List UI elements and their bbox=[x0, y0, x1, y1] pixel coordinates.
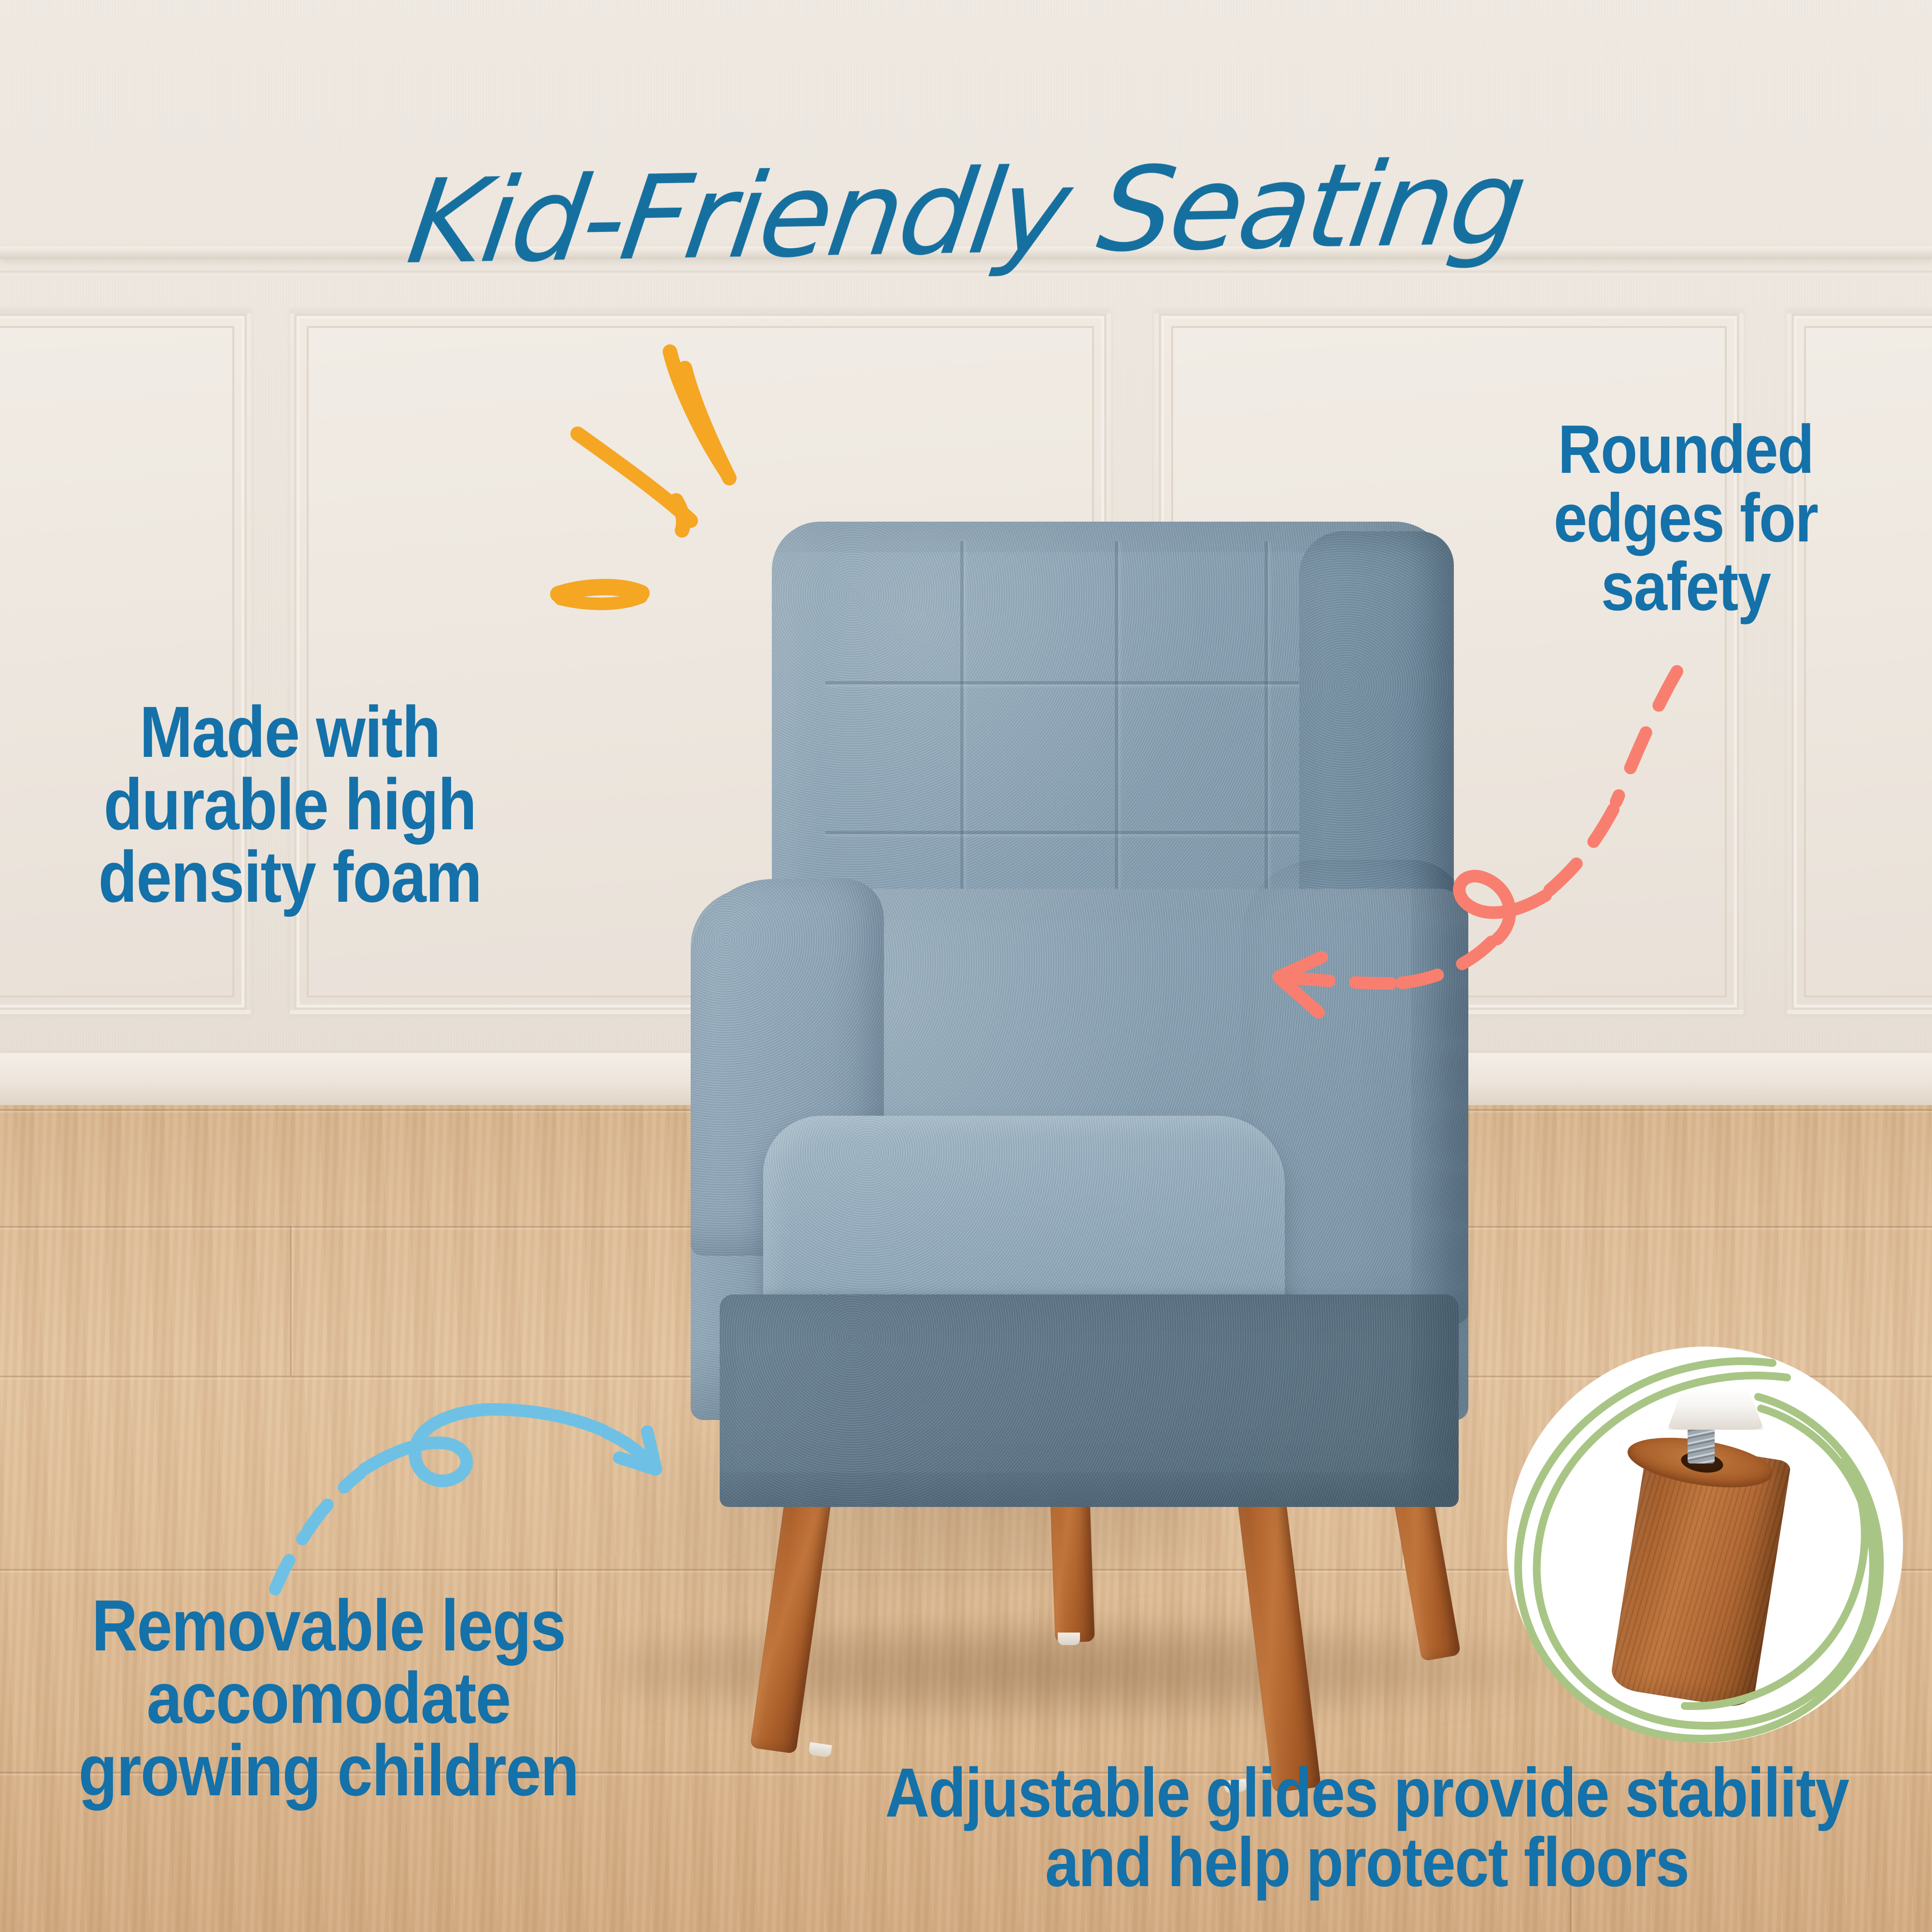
leg-glide bbox=[1058, 1633, 1080, 1645]
callout-rounded-edges: Rounded edges for safety bbox=[1499, 415, 1873, 621]
armchair bbox=[691, 522, 1541, 1715]
floor-plank-end bbox=[290, 1226, 292, 1376]
glide-detail-inset bbox=[1488, 1333, 1922, 1768]
callout-removable-legs: Removable legs accomodate growing childr… bbox=[43, 1589, 613, 1806]
chair-base-skirt bbox=[720, 1294, 1459, 1507]
chair-leg-front-left bbox=[750, 1479, 834, 1754]
chair-seat-cushion bbox=[763, 1116, 1285, 1319]
callout-durable-foam: Made with durable high density foam bbox=[60, 696, 519, 913]
infographic-canvas: Kid-Friendly Seating Made with durable h… bbox=[0, 0, 1932, 1932]
inset-glide-cap bbox=[1667, 1388, 1764, 1430]
callout-adjustable-glides: Adjustable glides provide stability and … bbox=[869, 1758, 1864, 1897]
